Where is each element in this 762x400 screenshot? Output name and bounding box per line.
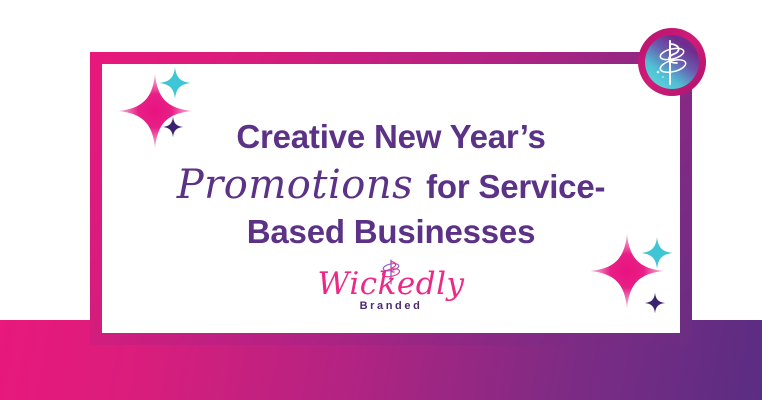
sparkle-tiny-purple-bottom-right xyxy=(644,292,666,319)
title-card-canvas: Creative New Year’s Promotions for Servi… xyxy=(0,0,762,400)
logo-subtitle: Branded xyxy=(301,301,481,312)
headline-line-1: Creative New Year’s xyxy=(148,116,634,159)
headline-line-3: Based Businesses xyxy=(148,211,634,254)
headline-line-2: Promotions for Service- xyxy=(148,159,634,211)
logo-script-name: Wickedly xyxy=(301,269,481,300)
headline: Creative New Year’s Promotions for Servi… xyxy=(102,116,680,254)
headline-script-word: Promotions xyxy=(177,162,417,208)
sparkle-small-teal-top-left xyxy=(158,66,192,105)
wickedly-branded-circle-badge xyxy=(636,26,708,98)
gradient-frame: Creative New Year’s Promotions for Servi… xyxy=(90,52,692,345)
brand-logo: Wickedly Branded xyxy=(301,257,481,327)
frame-inner-white-area: Creative New Year’s Promotions for Servi… xyxy=(102,64,680,333)
headline-line-2-rest: for Service- xyxy=(417,168,605,205)
